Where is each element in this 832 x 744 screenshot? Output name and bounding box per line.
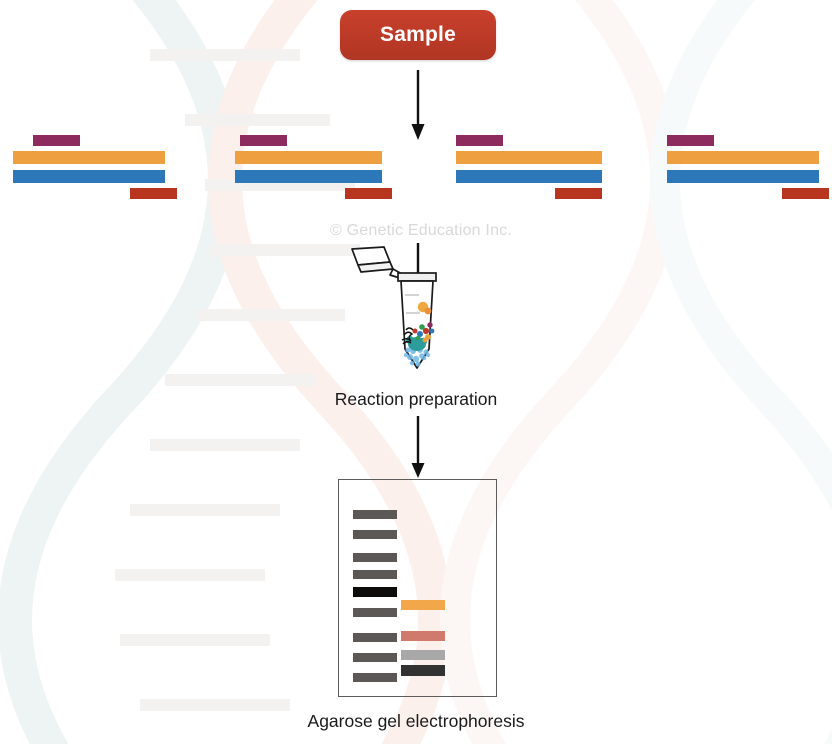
- gel-ladder-band: [353, 587, 397, 597]
- gel-ladder-band: [353, 653, 397, 662]
- gel-ladder-band: [353, 608, 397, 617]
- copyright-watermark: © Genetic Education Inc.: [330, 222, 512, 240]
- forward-primer-bar: [456, 135, 503, 146]
- gel-ladder-band: [353, 510, 397, 519]
- gel-sample-band: [401, 650, 445, 660]
- sample-label-text: Sample: [380, 23, 456, 47]
- gel-ladder-band: [353, 553, 397, 562]
- strand-group-3: [456, 135, 602, 199]
- arrow-sample-to-strands: [404, 70, 432, 142]
- reverse-primer-bar: [555, 188, 602, 199]
- template-strand-top-bar: [235, 151, 382, 164]
- reverse-primer-bar: [782, 188, 829, 199]
- arrow-tube-to-gel: [404, 416, 432, 480]
- template-strand-bottom-bar: [235, 170, 382, 183]
- gel-sample-band: [401, 665, 445, 676]
- template-strand-top-bar: [456, 151, 602, 164]
- sample-label-pill: Sample: [340, 10, 496, 60]
- strand-group-1: [13, 135, 165, 199]
- gel-sample-band: [401, 631, 445, 641]
- template-strand-bottom-bar: [13, 170, 165, 183]
- template-strand-bottom-bar: [667, 170, 819, 183]
- forward-primer-bar: [667, 135, 714, 146]
- strand-group-2: [235, 135, 382, 199]
- gel-sample-lane: [401, 480, 449, 696]
- caption-agarose-gel: Agarose gel electrophoresis: [0, 711, 832, 732]
- template-strand-bottom-bar: [456, 170, 602, 183]
- gel-ladder-lane: [353, 480, 401, 696]
- reverse-primer-bar: [130, 188, 177, 199]
- gel-ladder-band: [353, 633, 397, 642]
- reverse-primer-bar: [345, 188, 392, 199]
- strand-group-4: [667, 135, 819, 199]
- microcentrifuge-tube: [340, 245, 460, 385]
- gel-sample-band: [401, 600, 445, 610]
- forward-primer-bar: [33, 135, 80, 146]
- template-strand-top-bar: [667, 151, 819, 164]
- gel-ladder-band: [353, 673, 397, 682]
- gel-ladder-band: [353, 570, 397, 579]
- tube-cap-icon: [352, 247, 402, 278]
- figure-canvas: Sample © Genetic Education Inc.: [0, 0, 832, 744]
- agarose-gel-panel: [338, 479, 497, 697]
- forward-primer-bar: [240, 135, 287, 146]
- template-strand-top-bar: [13, 151, 165, 164]
- caption-reaction-preparation: Reaction preparation: [0, 389, 832, 410]
- gel-ladder-band: [353, 530, 397, 539]
